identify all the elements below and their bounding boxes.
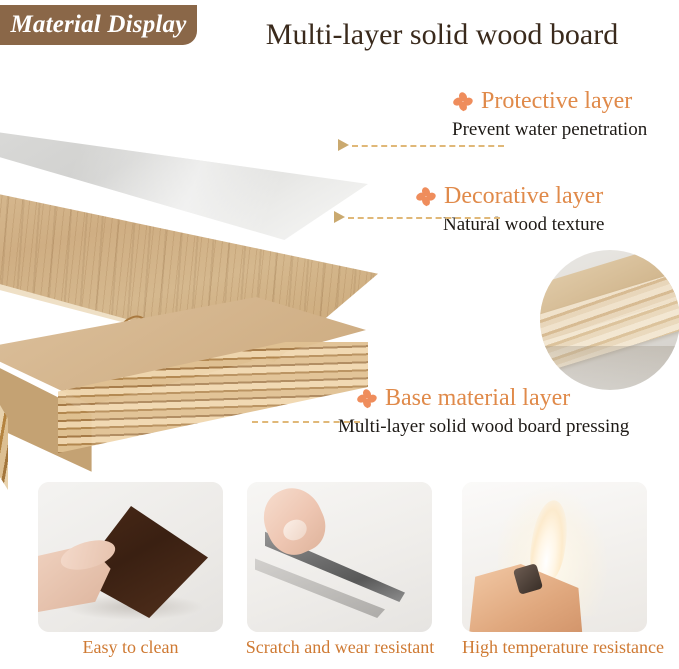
leader-arrow-protective: [338, 139, 349, 151]
inset-shadow: [540, 346, 679, 390]
callout-protective-layer: Protective layer Prevent water penetrati…: [452, 88, 647, 141]
badge-label: Material Display: [10, 11, 186, 39]
infographic-root: Material Display Multi-layer solid wood …: [0, 0, 679, 669]
material-display-badge: Material Display: [0, 5, 197, 45]
callout-title: Decorative layer: [444, 183, 603, 210]
leader-arrow-decorative: [334, 211, 345, 223]
clover-icon: [356, 388, 378, 410]
clover-icon: [415, 186, 437, 208]
feature-caption-easy-to-clean: Easy to clean: [38, 637, 223, 658]
callout-decorative-layer: Decorative layer Natural wood texture: [415, 183, 604, 236]
feature-caption-high-temperature: High temperature resistance: [452, 637, 674, 658]
leader-line-decorative: [348, 217, 500, 219]
callout-heading: Decorative layer: [415, 183, 604, 210]
feature-thumbnails: Easy to clean Scratch and wear resistant…: [0, 482, 679, 669]
leader-line-base-material: [252, 421, 360, 423]
feature-photo-scratch-resistant: [247, 482, 432, 632]
page-title: Multi-layer solid wood board: [222, 18, 662, 52]
feature-photo-easy-to-clean: [38, 482, 223, 632]
stacked-plywood-boards-photo: [540, 250, 679, 390]
callout-subtitle: Multi-layer solid wood board pressing: [338, 416, 629, 438]
leader-line-protective: [352, 145, 504, 147]
callout-heading: Protective layer: [452, 88, 647, 115]
callout-subtitle: Prevent water penetration: [452, 119, 647, 141]
feature-photo-high-temperature: [462, 482, 647, 632]
callout-title: Base material layer: [385, 385, 570, 412]
clover-icon: [452, 91, 474, 113]
callout-base-material-layer: Base material layer Multi-layer solid wo…: [356, 385, 629, 438]
callout-heading: Base material layer: [356, 385, 629, 412]
feature-caption-scratch-resistant: Scratch and wear resistant: [229, 637, 451, 658]
callout-title: Protective layer: [481, 88, 632, 115]
